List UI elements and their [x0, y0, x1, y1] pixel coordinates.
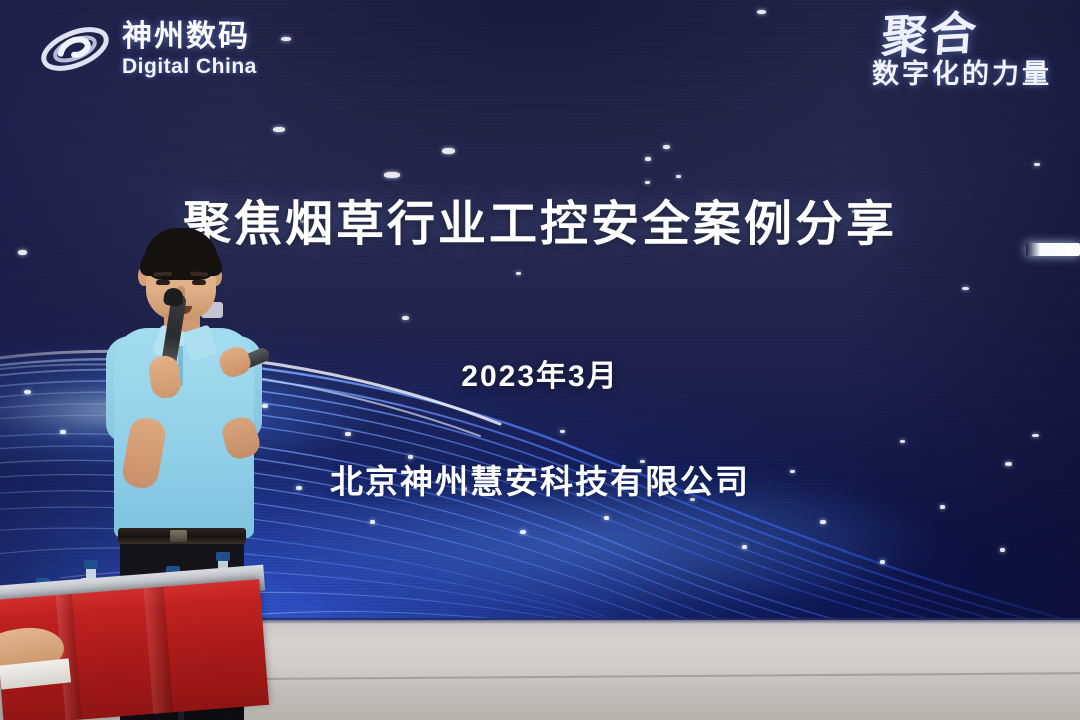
slogan-calligraphy: 聚合	[880, 12, 979, 59]
speaker-eye-right	[192, 280, 206, 285]
speaker-eye-left	[156, 280, 170, 285]
speaker-hair-fringe	[140, 246, 222, 276]
bottle-neck	[86, 569, 96, 578]
brand-logo: 神州数码 Digital China	[38, 18, 257, 80]
table-cloth-fold	[144, 587, 174, 714]
bottle-cap	[216, 552, 230, 561]
brand-name-en: Digital China	[122, 56, 257, 77]
speaker-belt-buckle	[170, 530, 187, 542]
event-slogan: 聚合 数字化的力量	[872, 14, 1052, 91]
light-streak	[1026, 243, 1080, 256]
brand-name-cn: 神州数码	[122, 22, 257, 52]
digital-china-swirl-icon	[38, 18, 112, 80]
conference-stage-photo: 神州数码 Digital China 聚合 数字化的力量 聚焦烟草行业工控安全案…	[0, 0, 1080, 720]
bottle-cap	[84, 560, 98, 569]
